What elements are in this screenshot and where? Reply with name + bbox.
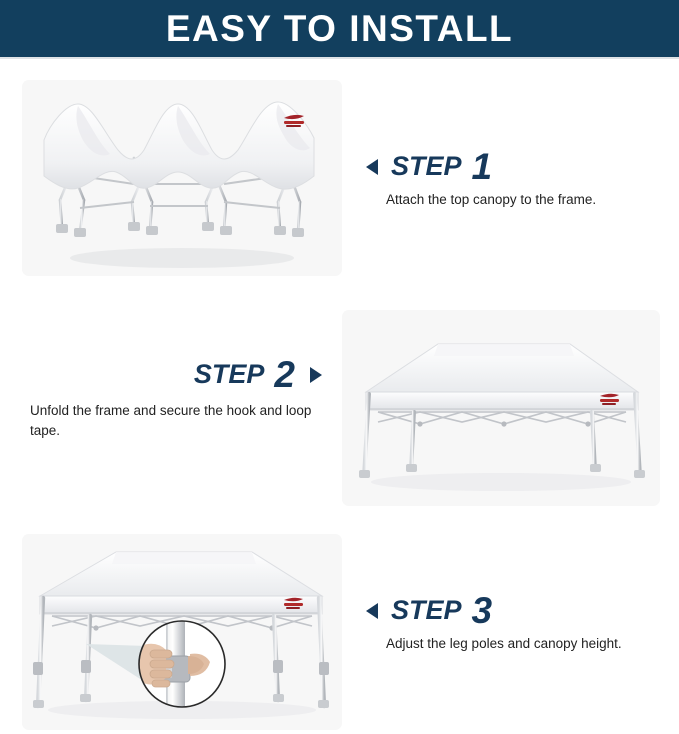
- step-3-description: Adjust the leg poles and canopy height.: [386, 634, 662, 654]
- step-row-3: STEP 3 Adjust the leg poles and canopy h…: [0, 0, 679, 300]
- step-3-text-block: STEP 3 Adjust the leg poles and canopy h…: [366, 594, 662, 654]
- step-3-word: STEP: [391, 595, 462, 626]
- step-2-text-block: STEP 2 Unfold the frame and secure the h…: [30, 358, 322, 440]
- canopy-height-adjust-illustration: [22, 534, 342, 730]
- step-2-heading: STEP 2: [30, 358, 322, 391]
- step-3-heading: STEP 3: [366, 594, 662, 627]
- step-2-description: Unfold the frame and secure the hook and…: [30, 401, 322, 440]
- triangle-left-icon: [366, 603, 378, 619]
- step-2-number: 2: [274, 358, 295, 391]
- step-2-image-panel: [342, 310, 660, 506]
- triangle-right-icon: [310, 367, 322, 383]
- step-2-word: STEP: [194, 359, 265, 390]
- step-3-image-panel: [22, 534, 342, 730]
- step-3-number: 3: [472, 594, 493, 627]
- assembled-canopy-illustration: [342, 310, 660, 506]
